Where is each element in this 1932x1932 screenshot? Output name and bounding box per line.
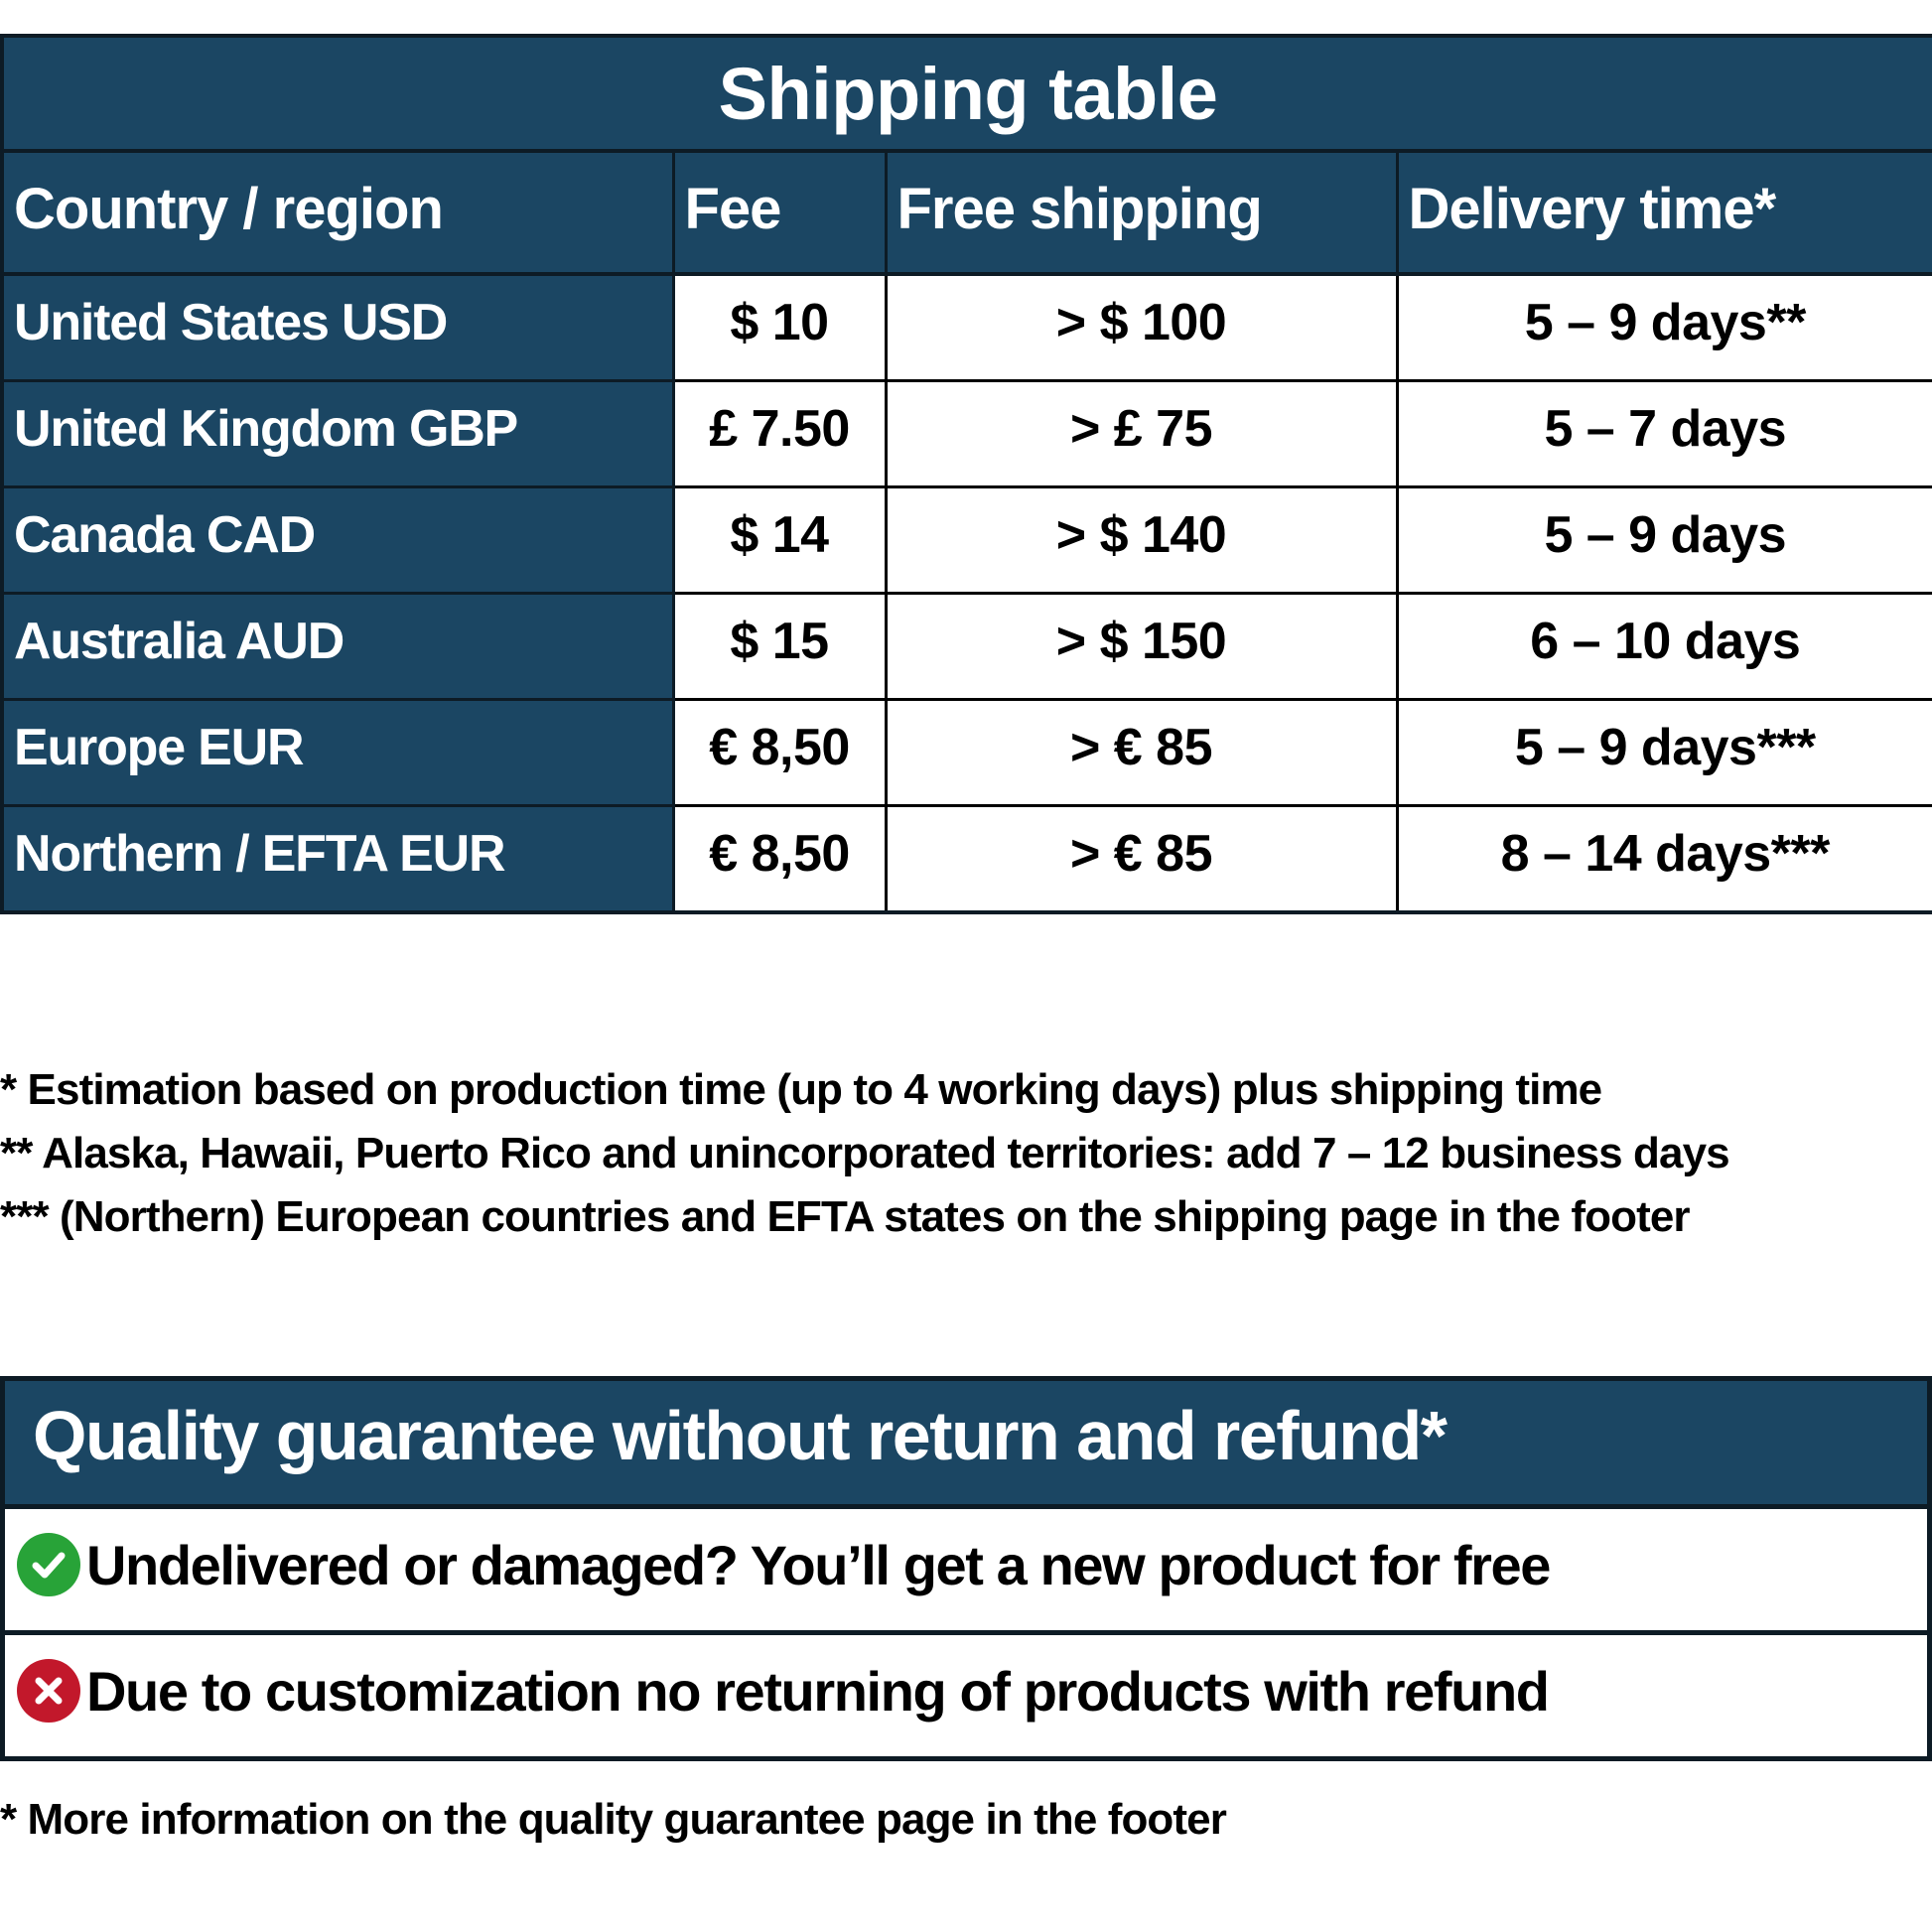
footnote-single-asterisk: * Estimation based on production time (u… (0, 1058, 1932, 1122)
footnote-double-asterisk: ** Alaska, Hawaii, Puerto Rico and uninc… (0, 1122, 1932, 1185)
cell-delivery-time: 5 – 9 days** (1397, 274, 1932, 381)
cell-free-shipping: > $ 140 (886, 487, 1397, 594)
table-row: Canada CAD $ 14 > $ 140 5 – 9 days (2, 487, 1932, 594)
cross-circle-icon (17, 1659, 80, 1723)
table-row: Australia AUD $ 15 > $ 150 6 – 10 days (2, 594, 1932, 700)
cell-delivery-time: 8 – 14 days*** (1397, 806, 1932, 913)
list-item: Due to customization no returning of pro… (3, 1633, 1930, 1759)
cell-region: Australia AUD (2, 594, 673, 700)
shipping-table: Shipping table Country / region Fee Free… (0, 34, 1932, 914)
table-row: Europe EUR € 8,50 > € 85 5 – 9 days*** (2, 700, 1932, 806)
cell-free-shipping: > £ 75 (886, 381, 1397, 487)
column-header-fee: Fee (673, 151, 886, 274)
cell-region: Canada CAD (2, 487, 673, 594)
shipping-footnotes: * Estimation based on production time (u… (0, 1058, 1932, 1249)
cell-region: Europe EUR (2, 700, 673, 806)
cell-region: United States USD (2, 274, 673, 381)
shipping-table-container: Shipping table Country / region Fee Free… (0, 34, 1932, 914)
quality-guarantee-row-positive: Undelivered or damaged? You’ll get a new… (3, 1507, 1930, 1633)
cell-fee: $ 10 (673, 274, 886, 381)
cell-region: United Kingdom GBP (2, 381, 673, 487)
cell-fee: $ 15 (673, 594, 886, 700)
cell-delivery-time: 5 – 9 days (1397, 487, 1932, 594)
shipping-table-header-row: Country / region Fee Free shipping Deliv… (2, 151, 1932, 274)
check-circle-icon (17, 1533, 80, 1596)
cell-delivery-time: 5 – 9 days*** (1397, 700, 1932, 806)
quality-guarantee-positive-text: Undelivered or damaged? You’ll get a new… (86, 1533, 1550, 1597)
quality-guarantee-table: Quality guarantee without return and ref… (0, 1376, 1932, 1761)
table-row: Northern / EFTA EUR € 8,50 > € 85 8 – 14… (2, 806, 1932, 913)
shipping-table-title: Shipping table (2, 36, 1932, 151)
cell-region: Northern / EFTA EUR (2, 806, 673, 913)
quality-guarantee-negative-text: Due to customization no returning of pro… (86, 1659, 1549, 1724)
quality-guarantee-title: Quality guarantee without return and ref… (3, 1379, 1930, 1507)
column-header-delivery-time: Delivery time* (1397, 151, 1932, 274)
cell-delivery-time: 6 – 10 days (1397, 594, 1932, 700)
list-item: Undelivered or damaged? You’ll get a new… (3, 1507, 1930, 1633)
table-row: United Kingdom GBP £ 7.50 > £ 75 5 – 7 d… (2, 381, 1932, 487)
shipping-info-page: Shipping table Country / region Fee Free… (0, 0, 1932, 1932)
cell-fee: £ 7.50 (673, 381, 886, 487)
cell-free-shipping: > € 85 (886, 806, 1397, 913)
shipping-table-title-row: Shipping table (2, 36, 1932, 151)
cell-free-shipping: > $ 150 (886, 594, 1397, 700)
cell-fee: € 8,50 (673, 806, 886, 913)
footnote-triple-asterisk: *** (Northern) European countries and EF… (0, 1185, 1932, 1249)
column-header-free-shipping: Free shipping (886, 151, 1397, 274)
cell-delivery-time: 5 – 7 days (1397, 381, 1932, 487)
column-header-country-region: Country / region (2, 151, 673, 274)
cell-free-shipping: > $ 100 (886, 274, 1397, 381)
quality-guarantee-row-negative: Due to customization no returning of pro… (3, 1633, 1930, 1759)
cell-free-shipping: > € 85 (886, 700, 1397, 806)
cell-fee: € 8,50 (673, 700, 886, 806)
cell-fee: $ 14 (673, 487, 886, 594)
quality-guarantee-footnote: * More information on the quality guaran… (0, 1795, 1932, 1845)
quality-guarantee-container: Quality guarantee without return and ref… (0, 1376, 1932, 1761)
quality-guarantee-title-row: Quality guarantee without return and ref… (3, 1379, 1930, 1507)
table-row: United States USD $ 10 > $ 100 5 – 9 day… (2, 274, 1932, 381)
